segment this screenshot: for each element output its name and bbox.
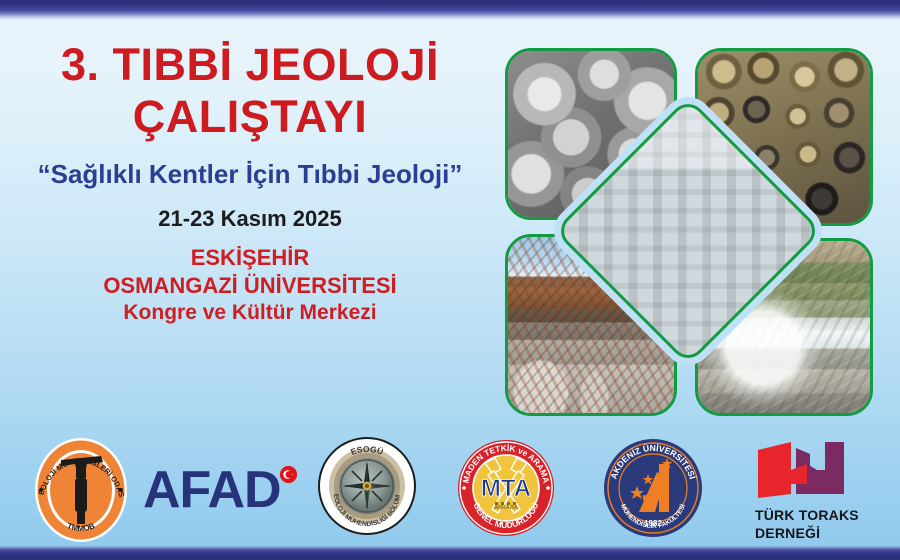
poster-text-block: 3. TIBBİ JEOLOJİ ÇALIŞTAYI “Sağlıklı Ken… bbox=[0, 40, 500, 327]
mta-icon: MTA ANKARA MADEN TETKİK ve ARAMA GENEL M… bbox=[457, 439, 555, 537]
poster-date: 21-23 Kasım 2025 bbox=[0, 206, 500, 232]
poster-subtitle: “Sağlıklı Kentler İçin Tıbbi Jeoloji” bbox=[0, 159, 500, 190]
svg-text:ANKARA: ANKARA bbox=[494, 505, 518, 511]
logo-tmmob-jmo[interactable]: JEOLOJİ MÜHENDİSLERİ ODASI TMMOB bbox=[28, 434, 134, 551]
logo-esogu-jeoloji[interactable]: ESOGÜ JEOLOJİ MÜHENDİSLİĞİ BÖLÜMÜ bbox=[317, 436, 417, 541]
turkish-flag-roundel-icon bbox=[280, 466, 297, 483]
conference-poster: 3. TIBBİ JEOLOJİ ÇALIŞTAYI “Sağlıklı Ken… bbox=[0, 0, 900, 560]
top-navy-band bbox=[0, 0, 900, 20]
poster-title-line-2: ÇALIŞTAYI bbox=[0, 92, 500, 142]
ttd-wordmark: TÜRK TORAKS DERNEĞİ bbox=[755, 507, 859, 541]
venue-line-2: OSMANGAZİ ÜNİVERSİTESİ bbox=[0, 272, 500, 300]
logo-turk-toraks-dernegi[interactable]: TÜRK TORAKS DERNEĞİ bbox=[755, 440, 900, 543]
svg-text:1982: 1982 bbox=[644, 519, 662, 528]
esogu-compass-icon: ESOGÜ JEOLOJİ MÜHENDİSLİĞİ BÖLÜMÜ bbox=[317, 436, 417, 536]
akdeniz-universitesi-icon: AKDENİZ ÜNİVERSİTESİ MÜHENDİSLİK FAKÜLTE… bbox=[603, 438, 703, 538]
sponsor-logo-strip: JEOLOJİ MÜHENDİSLERİ ODASI TMMOB AFAD bbox=[0, 424, 900, 546]
tmmob-jmo-icon: JEOLOJİ MÜHENDİSLERİ ODASI TMMOB bbox=[28, 434, 134, 546]
logo-mta[interactable]: MTA ANKARA MADEN TETKİK ve ARAMA GENEL M… bbox=[457, 439, 555, 542]
afad-wordmark: AFAD bbox=[143, 461, 281, 519]
ttd-lungs-icon bbox=[755, 440, 847, 502]
venue-line-3: Kongre ve Kültür Merkezi bbox=[0, 300, 500, 327]
poster-title-line-1: 3. TIBBİ JEOLOJİ bbox=[0, 40, 500, 90]
bottom-navy-band bbox=[0, 546, 900, 560]
logo-afad[interactable]: AFAD bbox=[143, 464, 281, 516]
photo-collage bbox=[505, 48, 873, 416]
logo-akdeniz-universitesi[interactable]: AKDENİZ ÜNİVERSİTESİ MÜHENDİSLİK FAKÜLTE… bbox=[603, 438, 703, 543]
venue-line-1: ESKİŞEHİR bbox=[0, 244, 500, 272]
poster-venue: ESKİŞEHİR OSMANGAZİ ÜNİVERSİTESİ Kongre … bbox=[0, 244, 500, 327]
svg-text:MTA: MTA bbox=[481, 475, 531, 502]
